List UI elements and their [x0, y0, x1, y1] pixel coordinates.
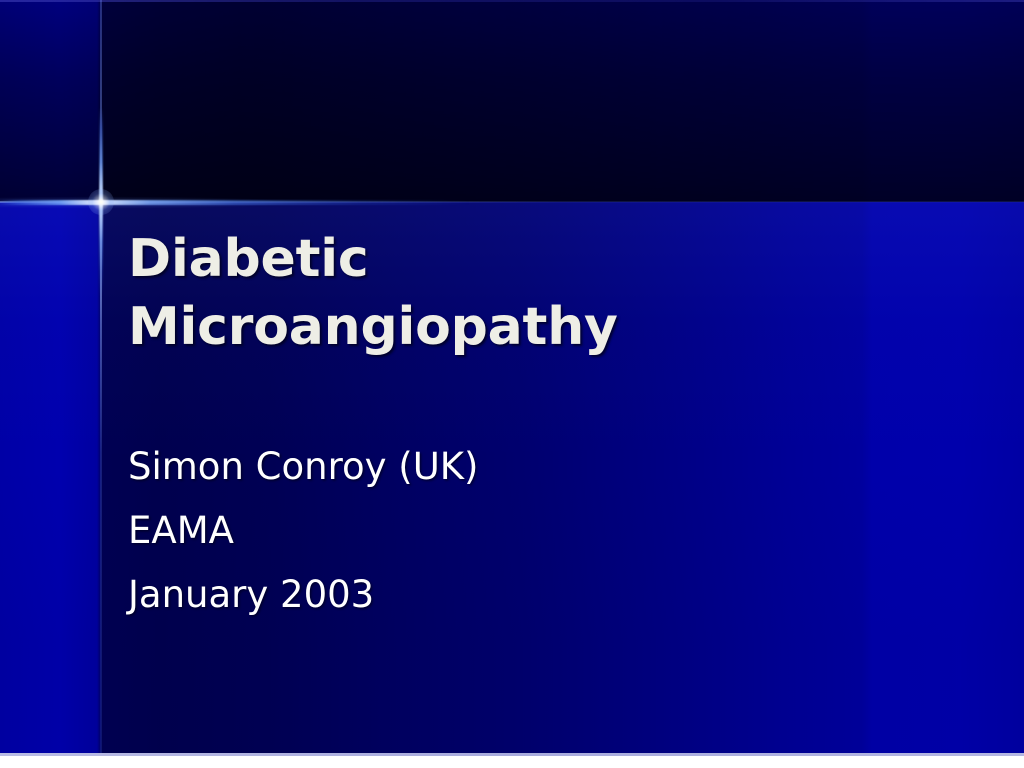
sparkle-core — [88, 189, 114, 215]
title-line-1: Diabetic — [128, 225, 918, 293]
title-slide: Diabetic Microangiopathy Simon Conroy (U… — [0, 0, 1024, 753]
background-top-hairline — [0, 0, 1024, 2]
subtitle-line-organisation: EAMA — [128, 499, 918, 563]
sparkle-horizontal-beam — [0, 200, 470, 205]
page-margin-below-slide — [0, 756, 1024, 768]
slide-subtitle: Simon Conroy (UK) EAMA January 2003 — [128, 435, 918, 627]
page-title: Diabetic Microangiopathy — [128, 225, 918, 361]
slide-viewport: Diabetic Microangiopathy Simon Conroy (U… — [0, 0, 1024, 768]
title-line-2: Microangiopathy — [128, 293, 918, 361]
background-upper-band — [0, 0, 1024, 202]
subtitle-line-author: Simon Conroy (UK) — [128, 435, 918, 499]
subtitle-line-date: January 2003 — [128, 563, 918, 627]
